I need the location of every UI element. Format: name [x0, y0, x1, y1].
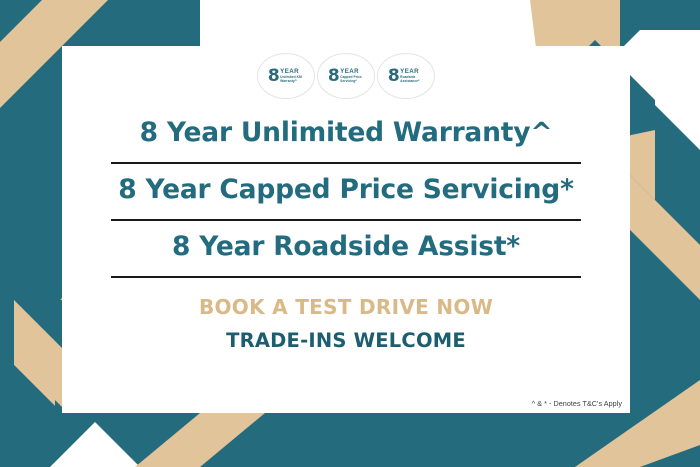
trade-ins-welcome-label: TRADE-INS WELCOME — [199, 329, 493, 352]
badge-sub-label: Unlimited KM Warranty^ — [280, 75, 304, 83]
badge-number: 8 — [328, 68, 339, 85]
badge-unlimited-km-warranty: 8 YEAR Unlimited KM Warranty^ — [257, 53, 315, 99]
offer-warranty: 8 Year Unlimited Warranty^ — [111, 107, 581, 162]
badge-number: 8 — [268, 68, 279, 85]
badge-number: 8 — [388, 68, 399, 85]
badge-sub-label: Capped Price Servicing* — [340, 75, 364, 83]
badge-row: 8 YEAR Unlimited KM Warranty^ 8 YEAR Cap… — [257, 53, 435, 99]
terms-fineprint: ^ & * - Denotes T&C's Apply — [532, 399, 622, 408]
book-test-drive-cta[interactable]: BOOK A TEST DRIVE NOW — [199, 295, 493, 319]
promo-banner: 8 YEAR Unlimited KM Warranty^ 8 YEAR Cap… — [0, 0, 700, 467]
offer-roadside-assist: 8 Year Roadside Assist* — [111, 221, 581, 276]
badge-sub-label: Roadside Assistance* — [400, 75, 424, 83]
divider-3 — [111, 276, 581, 278]
offer-list: 8 Year Unlimited Warranty^ 8 Year Capped… — [111, 107, 581, 278]
offer-capped-price-servicing: 8 Year Capped Price Servicing* — [111, 164, 581, 219]
cta-group: BOOK A TEST DRIVE NOW TRADE-INS WELCOME — [199, 295, 493, 352]
badge-roadside-assistance: 8 YEAR Roadside Assistance* — [377, 53, 435, 99]
badge-capped-price-servicing: 8 YEAR Capped Price Servicing* — [317, 53, 375, 99]
content-card: 8 YEAR Unlimited KM Warranty^ 8 YEAR Cap… — [62, 46, 630, 413]
